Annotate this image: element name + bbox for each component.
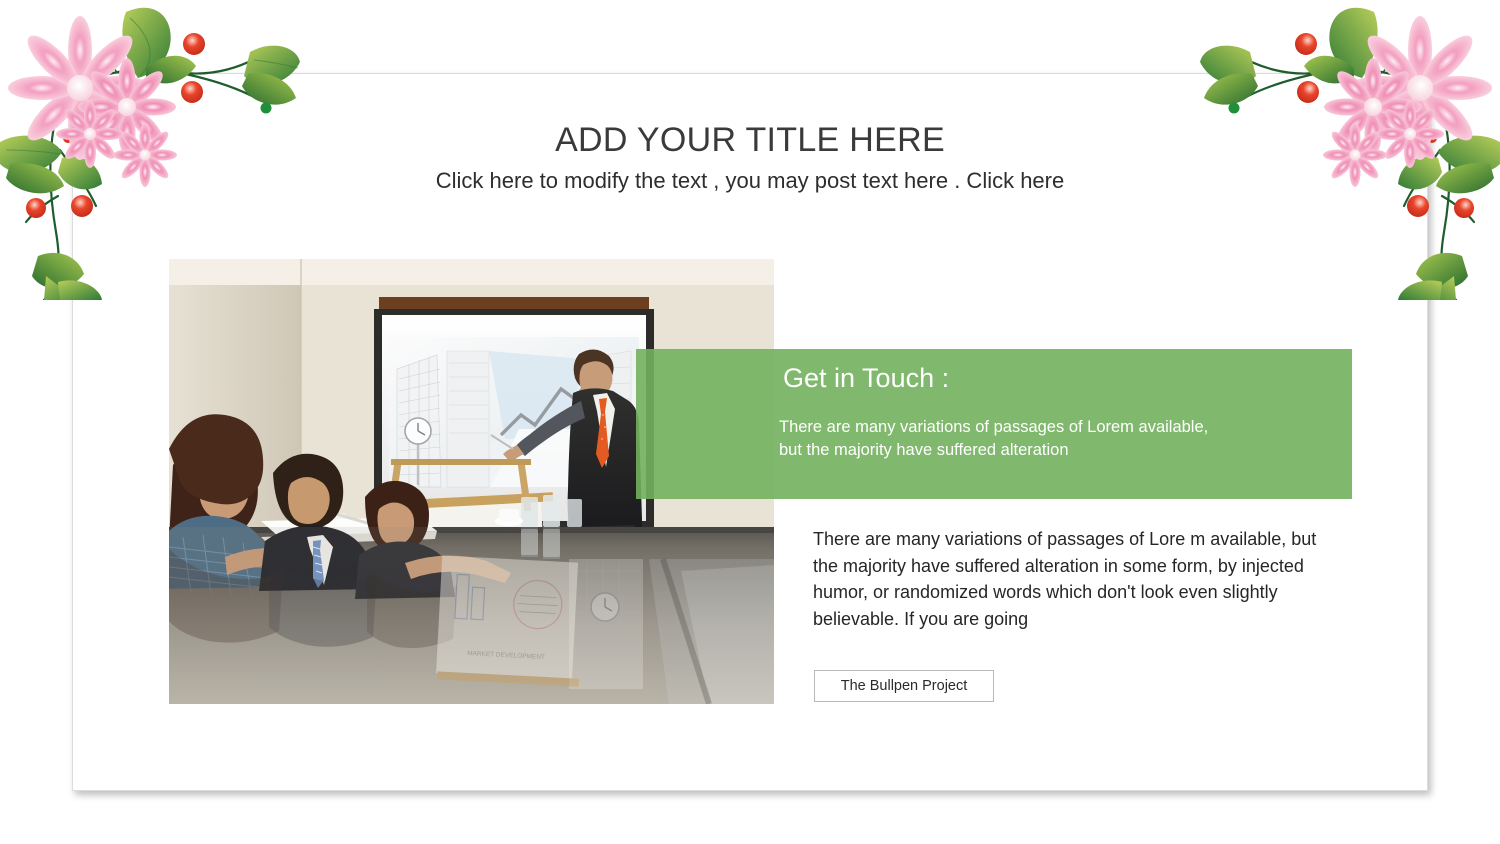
callout-body-line2: but the majority have suffered alteratio… (779, 439, 1359, 462)
callout-body: There are many variations of passages of… (779, 416, 1359, 462)
page-subtitle: Click here to modify the text , you may … (73, 168, 1427, 194)
slide-canvas: ADD YOUR TITLE HERE Click here to modify… (0, 0, 1500, 844)
slide-panel: ADD YOUR TITLE HERE Click here to modify… (72, 73, 1428, 791)
page-title: ADD YOUR TITLE HERE (73, 121, 1427, 160)
callout-heading: Get in Touch : (783, 363, 949, 394)
get-in-touch-callout: Get in Touch : There are many variations… (636, 349, 1352, 499)
callout-body-line1: There are many variations of passages of… (779, 418, 1208, 436)
the-bullpen-project-button[interactable]: The Bullpen Project (814, 670, 994, 702)
body-paragraph: There are many variations of passages of… (813, 526, 1323, 632)
